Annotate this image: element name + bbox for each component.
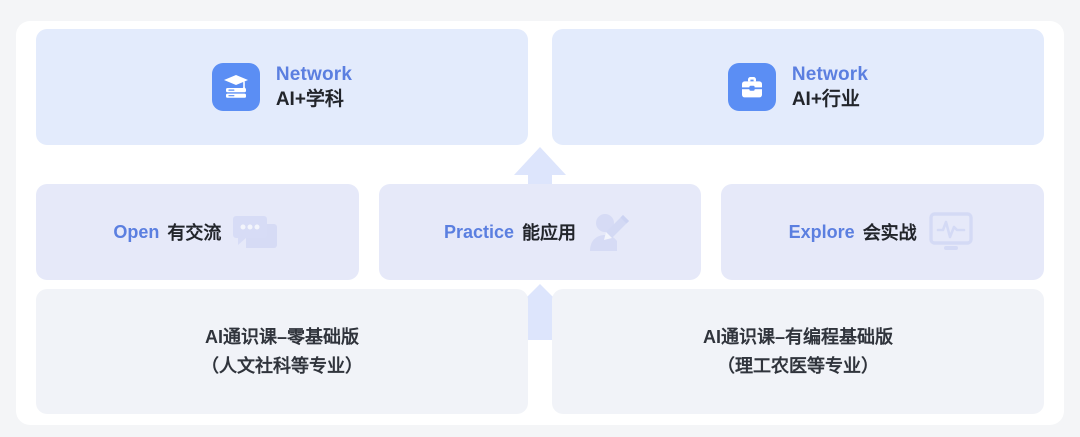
top-card-cn-label: AI+学科 — [276, 89, 352, 111]
mid-card-explore[interactable]: Explore 会实战 — [721, 184, 1044, 280]
mid-card-en-label: Explore — [789, 222, 855, 243]
mid-card-en-label: Open — [113, 222, 159, 243]
top-card-text: Network AI+行业 — [792, 64, 868, 111]
briefcase-icon — [728, 63, 776, 111]
middle-row: Open 有交流 Practice 能应用 — [16, 184, 1064, 280]
mid-card-practice[interactable]: Practice 能应用 — [379, 184, 702, 280]
graduation-cap-books-icon — [212, 63, 260, 111]
mid-card-cn-label: 能应用 — [522, 219, 576, 245]
mid-card-cn-label: 有交流 — [167, 219, 221, 245]
monitor-pulse-icon — [925, 209, 977, 255]
chat-bubbles-icon — [229, 209, 281, 255]
mid-card-en-label: Practice — [444, 222, 514, 243]
top-card-en-label: Network — [792, 64, 868, 86]
bottom-card-line1: AI通识课–有编程基础版 — [703, 326, 893, 349]
top-card-ai-discipline[interactable]: Network AI+学科 — [36, 29, 528, 145]
top-card-en-label: Network — [276, 64, 352, 86]
mid-card-cn-label: 会实战 — [863, 219, 917, 245]
top-card-text: Network AI+学科 — [276, 64, 352, 111]
mid-card-open[interactable]: Open 有交流 — [36, 184, 359, 280]
top-card-ai-industry[interactable]: Network AI+行业 — [552, 29, 1044, 145]
bottom-card-programming-basis[interactable]: AI通识课–有编程基础版 （理工农医等专业） — [552, 289, 1044, 414]
person-pencil-icon — [584, 209, 636, 255]
diagram-panel: Network AI+学科 Network AI+行业 — [16, 21, 1064, 425]
top-card-cn-label: AI+行业 — [792, 89, 868, 111]
bottom-card-line2: （理工农医等专业） — [717, 355, 879, 378]
bottom-row: AI通识课–零基础版 （人文社科等专业） AI通识课–有编程基础版 （理工农医等… — [16, 289, 1064, 414]
diagram-stage: Network AI+学科 Network AI+行业 — [0, 0, 1080, 437]
bottom-card-line2: （人文社科等专业） — [201, 355, 363, 378]
bottom-card-line1: AI通识课–零基础版 — [205, 326, 359, 349]
top-row: Network AI+学科 Network AI+行业 — [16, 29, 1064, 145]
bottom-card-zero-basis[interactable]: AI通识课–零基础版 （人文社科等专业） — [36, 289, 528, 414]
